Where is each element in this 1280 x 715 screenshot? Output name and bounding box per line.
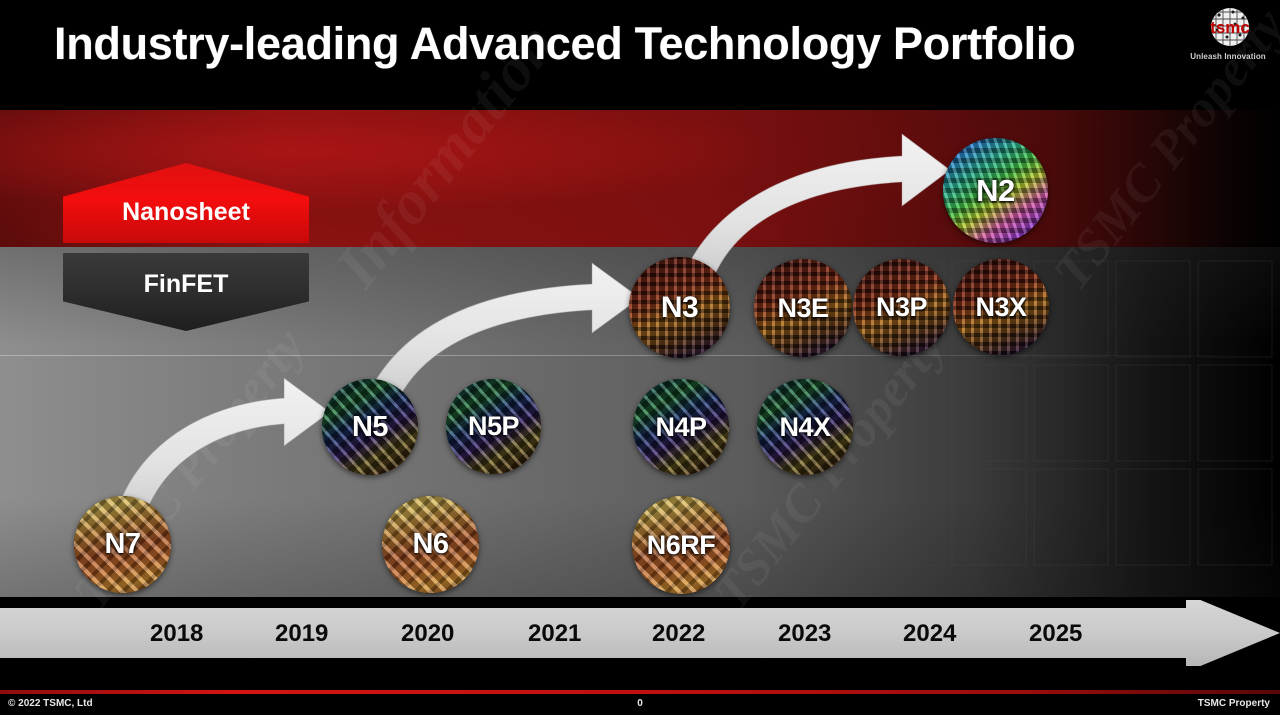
technology-node-n6rf[interactable]: N6RF — [632, 496, 730, 594]
timeline-year-2018: 2018 — [150, 620, 203, 648]
slide-canvas: Industry-leading Advanced Technology Por… — [0, 0, 1280, 715]
technology-node-n7[interactable]: N7 — [74, 496, 171, 593]
timeline-year-2023: 2023 — [778, 620, 831, 648]
technology-node-label: N3X — [975, 292, 1026, 323]
technology-node-n3[interactable]: N3 — [629, 257, 730, 358]
technology-node-label: N3 — [661, 291, 698, 325]
technology-node-label: N2 — [976, 173, 1015, 209]
timeline-year-2025: 2025 — [1029, 620, 1082, 648]
technology-node-n3x[interactable]: N3X — [953, 259, 1049, 355]
title-bar: Industry-leading Advanced Technology Por… — [0, 0, 1280, 110]
technology-node-label: N5P — [468, 411, 519, 442]
timeline: 20182019202020212022202320242025 — [0, 600, 1280, 666]
technology-node-label: N6RF — [647, 530, 716, 561]
footer-rule — [0, 690, 1280, 694]
footer-page-number: 0 — [0, 698, 1280, 709]
band-label-nanosheet-text: Nanosheet — [122, 198, 250, 227]
technology-node-n6[interactable]: N6 — [382, 496, 479, 593]
footer-classification: TSMC Property — [1198, 698, 1270, 709]
timeline-year-2020: 2020 — [401, 620, 454, 648]
tsmc-wafer-logo-icon: tsmc — [1202, 6, 1258, 50]
tsmc-wordmark: tsmc — [1210, 18, 1250, 37]
footer: © 2022 TSMC, Ltd 0 TSMC Property — [0, 666, 1280, 715]
technology-node-n4x[interactable]: N4X — [757, 379, 853, 475]
timeline-year-2021: 2021 — [528, 620, 581, 648]
technology-node-n3e[interactable]: N3E — [754, 259, 852, 357]
technology-node-n2[interactable]: N2 — [943, 138, 1048, 243]
technology-node-label: N7 — [104, 528, 140, 561]
tsmc-logo: tsmc Unleash Innovation — [1184, 4, 1272, 68]
technology-node-label: N4X — [779, 412, 830, 443]
timeline-year-2024: 2024 — [903, 620, 956, 648]
timeline-year-2019: 2019 — [275, 620, 328, 648]
technology-node-label: N4P — [655, 412, 706, 443]
technology-node-label: N3E — [777, 293, 828, 324]
page-title: Industry-leading Advanced Technology Por… — [54, 18, 1075, 70]
technology-node-n3p[interactable]: N3P — [853, 259, 950, 356]
technology-node-n5p[interactable]: N5P — [446, 379, 541, 474]
logo-tagline: Unleash Innovation — [1184, 52, 1272, 61]
band-label-finfet-text: FinFET — [144, 270, 229, 299]
technology-node-n4p[interactable]: N4P — [633, 379, 729, 475]
timeline-year-2022: 2022 — [652, 620, 705, 648]
technology-node-label: N3P — [876, 292, 927, 323]
technology-node-label: N5 — [352, 411, 388, 444]
technology-node-n5[interactable]: N5 — [322, 379, 418, 475]
timeline-year-labels: 20182019202020212022202320242025 — [0, 600, 1280, 666]
technology-node-label: N6 — [412, 528, 448, 561]
